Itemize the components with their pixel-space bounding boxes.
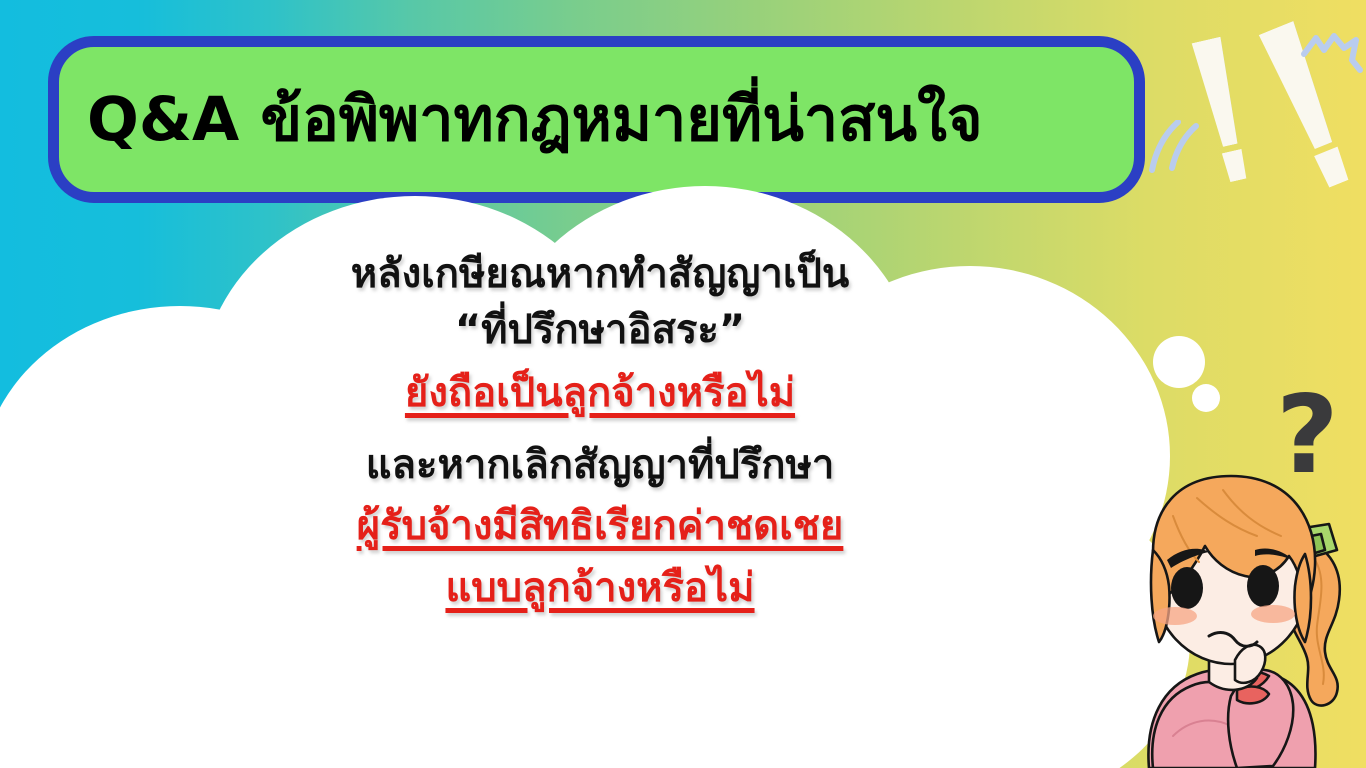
bubble-line-1: หลังเกษียณหากทำสัญญาเป็น xyxy=(250,252,950,298)
speed-lines-left xyxy=(1148,120,1208,182)
bubble-text-block: หลังเกษียณหากทำสัญญาเป็น “ที่ปรึกษาอิสระ… xyxy=(250,252,950,618)
poster-canvas: Q&A ข้อพิพาทกฎหมายที่น่าสนใจ หลังเกษียณห… xyxy=(0,0,1366,768)
thought-dot-large xyxy=(1153,336,1205,388)
page-title: Q&A ข้อพิพาทกฎหมายที่น่าสนใจ xyxy=(59,89,983,150)
bubble-line-4: และหากเลิกสัญญาที่ปรึกษา xyxy=(250,443,950,489)
bubble-line-5: ผู้รับจ้างมีสิทธิเรียกค่าชดเชย xyxy=(250,504,950,550)
bubble-line-2: “ที่ปรึกษาอิสระ” xyxy=(250,308,950,354)
exclamation-dot xyxy=(1220,148,1250,183)
bubble-line-6: แบบลูกจ้างหรือไม่ xyxy=(250,566,950,612)
speed-lines-right xyxy=(1300,30,1366,90)
thinking-girl-illustration xyxy=(1105,420,1366,768)
title-banner: Q&A ข้อพิพาทกฎหมายที่น่าสนใจ xyxy=(48,36,1145,203)
exclamation-dot xyxy=(1312,145,1353,189)
bubble-line-3: ยังถือเป็นลูกจ้างหรือไม่ xyxy=(250,371,950,417)
thought-dot-small xyxy=(1192,384,1220,412)
